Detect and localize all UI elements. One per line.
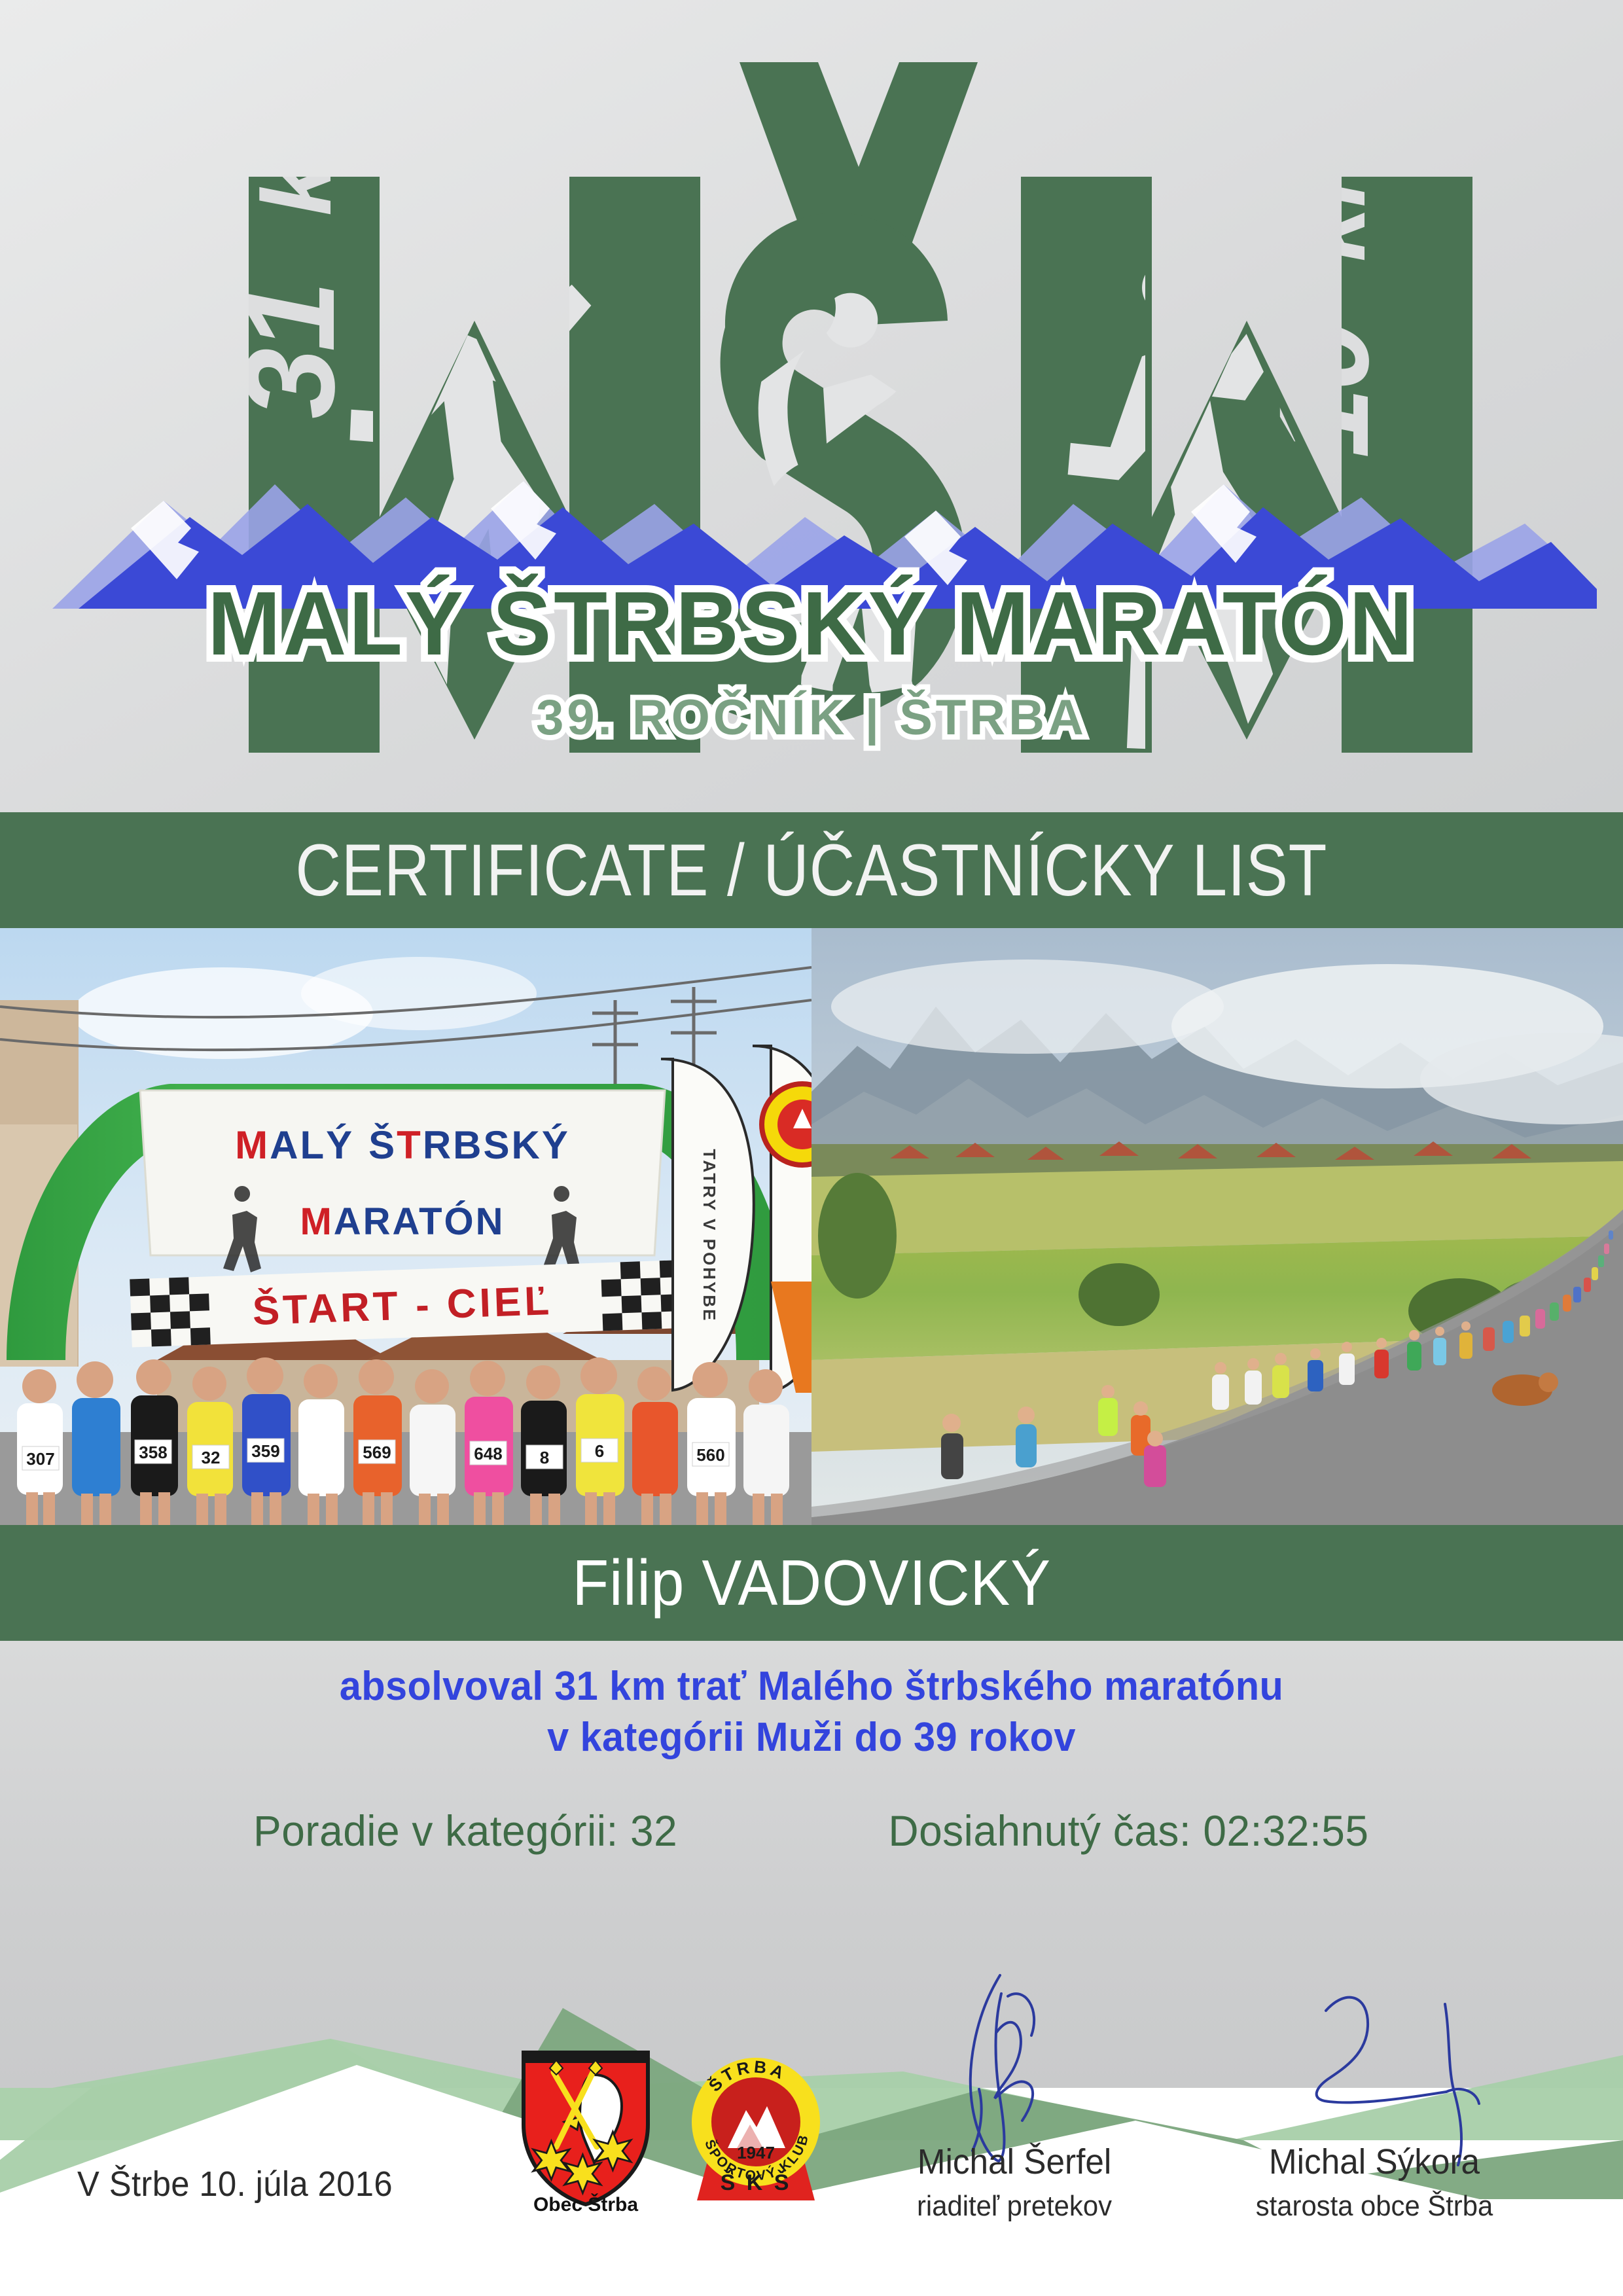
- event-subtitle: 39. ROČNÍK | ŠTRBA: [536, 690, 1087, 746]
- sks-year: 1947: [737, 2143, 775, 2162]
- svg-text:MARATÓN: MARATÓN: [300, 1200, 505, 1243]
- svg-text:560: 560: [696, 1445, 724, 1465]
- svg-text:6: 6: [595, 1441, 604, 1461]
- finish-time: Dosiahnutý čas: 02:32:55: [888, 1806, 1368, 1856]
- svg-text:648: 648: [474, 1444, 502, 1463]
- signature-block-director: Michal Šerfel riaditeľ pretekov: [844, 1970, 1185, 2223]
- result-row: Poradie v kategórii: 32 Dosiahnutý čas: …: [0, 1806, 1623, 1856]
- category-rank: Poradie v kategórii: 32: [253, 1806, 677, 1856]
- photo-course-landscape: [811, 928, 1623, 1525]
- svg-text:569: 569: [363, 1443, 391, 1462]
- svg-text:32: 32: [202, 1448, 221, 1467]
- svg-text:MALÝŠTRBSKÝ: MALÝŠTRBSKÝ: [235, 1123, 570, 1167]
- obec-crest-caption: Obec Štrba: [533, 2193, 638, 2212]
- signatory-name: Michal Sýkora: [1213, 2142, 1536, 2182]
- issue-date: V Štrbe 10. júla 2016: [77, 2164, 393, 2204]
- event-title: MALÝ ŠTRBSKÝ MARATÓN: [207, 573, 1415, 673]
- svg-text:358: 358: [139, 1443, 167, 1462]
- photo-strip: MALÝŠTRBSKÝ MARATÓN: [0, 928, 1623, 1525]
- obec-strba-crest-icon: Obec Štrba: [510, 2049, 661, 2212]
- photo-start-line: MALÝŠTRBSKÝ MARATÓN: [0, 928, 811, 1525]
- msm-logo-graphic: 31 km 10 km: [0, 0, 1623, 812]
- svg-text:307: 307: [26, 1449, 54, 1469]
- details-section: absolvoval 31 km trať Malého štrbského m…: [0, 1641, 1623, 1946]
- signatory-role: riaditeľ pretekov: [853, 2190, 1176, 2223]
- svg-text:8: 8: [540, 1448, 549, 1467]
- sks-club-logo-icon: ŠTRBA ŠPORTOVÝ KLUB 1947 Š K Š: [681, 2050, 831, 2214]
- participant-name: Filip VADOVICKÝ: [572, 1546, 1050, 1620]
- certificate-banner: CERTIFICATE / ÚČASTNÍCKY LIST: [0, 812, 1623, 928]
- svg-text:359: 359: [251, 1441, 279, 1461]
- signature-michal-serfel-icon: [844, 1970, 1185, 2166]
- signatory-name: Michal Šerfel: [853, 2142, 1176, 2182]
- certificate-title: CERTIFICATE / ÚČASTNÍCKY LIST: [295, 828, 1327, 912]
- signature-block-mayor: Michal Sýkora starosta obce Štrba: [1204, 1970, 1544, 2223]
- logo-header: 31 km 10 km: [0, 0, 1623, 812]
- participant-name-band: Filip VADOVICKÝ: [0, 1525, 1623, 1641]
- description-line-1: absolvoval 31 km trať Malého štrbského m…: [33, 1663, 1591, 1710]
- description-line-2: v kategórii Muži do 39 rokov: [33, 1714, 1591, 1761]
- certificate-footer: V Štrbe 10. júla 2016 Obec Štrba: [0, 2042, 1623, 2296]
- signature-michal-sykora-icon: [1204, 1970, 1544, 2166]
- sks-initials: Š K Š: [721, 2170, 792, 2195]
- svg-text:TATRY V POHYBE: TATRY V POHYBE: [700, 1149, 719, 1323]
- signatory-role: starosta obce Štrba: [1213, 2190, 1536, 2223]
